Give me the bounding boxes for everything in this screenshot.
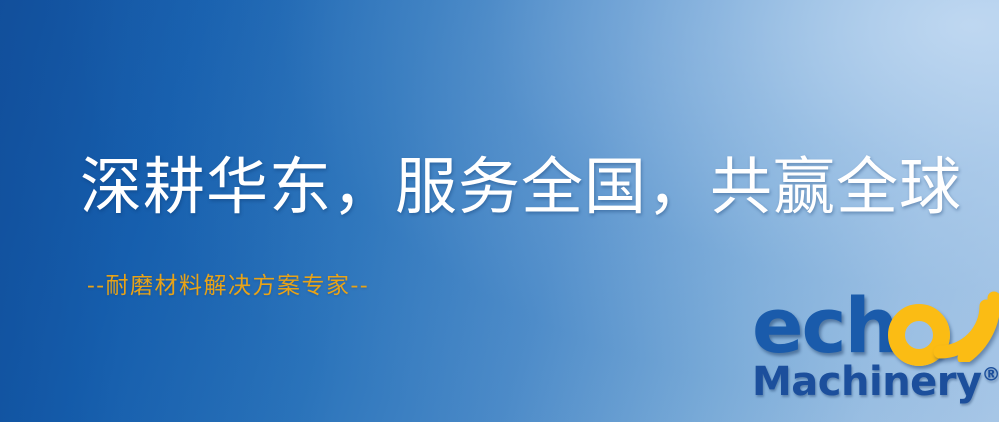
banner-subtitle: --耐磨材料解决方案专家-- (87, 266, 369, 300)
logo-wordmark-ech: ech (752, 288, 897, 364)
registered-trademark-mark: ® (982, 364, 999, 386)
banner-headline: 深耕华东，服务全国，共赢全球 (80, 152, 962, 221)
signal-waves-icon (924, 290, 999, 362)
logo-tagline-text: Machinery (752, 359, 982, 405)
logo-tagline-row: Machinery® (752, 362, 999, 402)
company-logo[interactable]: ech Machinery® (748, 296, 999, 422)
hero-banner: 深耕华东，服务全国，共赢全球 --耐磨材料解决方案专家-- ech Machin… (0, 0, 999, 422)
